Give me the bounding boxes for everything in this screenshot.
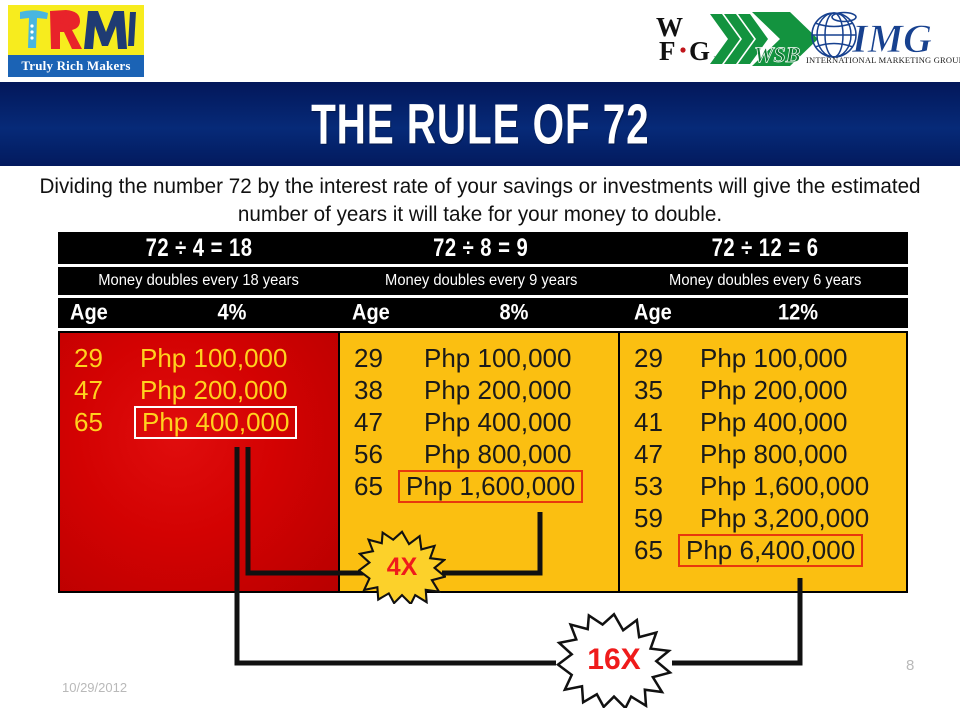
age-header-label-3: Age bbox=[622, 300, 722, 325]
formula-text-3: 72 ÷ 12 = 6 bbox=[712, 233, 819, 263]
highlighted-amount-box: Php 1,600,000 bbox=[398, 470, 583, 503]
row-amount: Php 800,000 bbox=[398, 439, 618, 470]
doubling-note-cell-1: Money doubles every 18 years bbox=[58, 267, 340, 295]
age-header-label-2: Age bbox=[340, 300, 440, 325]
row-amount: Php 200,000 bbox=[678, 375, 906, 406]
page-title: THE RULE OF 72 bbox=[311, 91, 649, 157]
row-age: 53 bbox=[620, 471, 678, 502]
svg-text:G: G bbox=[689, 36, 710, 66]
row-age: 47 bbox=[620, 439, 678, 470]
table-row: 65 Php 400,000 bbox=[60, 406, 338, 438]
callout-16x-label: 16X bbox=[550, 612, 678, 708]
table-row: 29 Php 100,000 bbox=[340, 342, 618, 374]
age-rate-header-2: Age 8% bbox=[340, 297, 622, 330]
trm-letters-icon bbox=[14, 6, 138, 54]
row-age: 41 bbox=[620, 407, 678, 438]
row-amount: Php 400,000 bbox=[678, 407, 906, 438]
table-row: 59 Php 3,200,000 bbox=[620, 502, 906, 534]
callout-4x: 4X bbox=[358, 530, 446, 604]
age-rate-header-1: Age 4% bbox=[58, 297, 340, 330]
data-column-4pct: 29 Php 100,000 47 Php 200,000 65 Php 400… bbox=[60, 333, 340, 591]
row-amount: Php 100,000 bbox=[118, 343, 338, 374]
row-age: 59 bbox=[620, 503, 678, 534]
formula-header-row: 72 ÷ 4 = 18 72 ÷ 8 = 9 72 ÷ 12 = 6 bbox=[58, 232, 908, 264]
row-amount: Php 200,000 bbox=[118, 375, 338, 406]
slide-title-bar: THE RULE OF 72 bbox=[0, 82, 960, 166]
callout-4x-label: 4X bbox=[358, 530, 446, 604]
svg-text:WSB: WSB bbox=[754, 42, 800, 67]
formula-text-1: 72 ÷ 4 = 18 bbox=[146, 233, 253, 263]
slide-number: 8 bbox=[906, 657, 914, 674]
age-rate-header-row: Age 4% Age 8% Age 12% bbox=[58, 298, 908, 328]
trm-logo: Truly Rich Makers bbox=[8, 5, 144, 73]
row-amount: Php 400,000 bbox=[398, 407, 618, 438]
row-age: 65 bbox=[340, 471, 398, 502]
row-amount: Php 1,600,000 bbox=[678, 471, 906, 502]
highlighted-amount-box: Php 400,000 bbox=[134, 406, 297, 439]
rule-of-72-table: 72 ÷ 4 = 18 72 ÷ 8 = 9 72 ÷ 12 = 6 Money… bbox=[58, 232, 908, 593]
row-amount: Php 100,000 bbox=[678, 343, 906, 374]
table-row: 35 Php 200,000 bbox=[620, 374, 906, 406]
row-age: 29 bbox=[340, 343, 398, 374]
logo-band: Truly Rich Makers W F G ™ WSB bbox=[0, 0, 960, 82]
row-age: 35 bbox=[620, 375, 678, 406]
table-row: 47 Php 800,000 bbox=[620, 438, 906, 470]
row-amount: Php 200,000 bbox=[398, 375, 618, 406]
slide-date: 10/29/2012 bbox=[62, 680, 127, 695]
doubling-note-1: Money doubles every 18 years bbox=[99, 272, 300, 290]
img-logo-caption: INTERNATIONAL MARKETING GROUP bbox=[806, 55, 958, 65]
data-column-12pct: 29 Php 100,000 35 Php 200,000 41 Php 400… bbox=[620, 333, 906, 591]
table-row: 29 Php 100,000 bbox=[620, 342, 906, 374]
formula-text-2: 72 ÷ 8 = 9 bbox=[433, 233, 528, 263]
callout-16x: 16X bbox=[550, 612, 678, 708]
row-amount: Php 800,000 bbox=[678, 439, 906, 470]
table-row: 65 Php 6,400,000 bbox=[620, 534, 906, 566]
table-row: 29 Php 100,000 bbox=[60, 342, 338, 374]
table-row: 41 Php 400,000 bbox=[620, 406, 906, 438]
doubling-note-2: Money doubles every 9 years bbox=[385, 272, 577, 290]
age-header-label-1: Age bbox=[58, 300, 158, 325]
row-age: 29 bbox=[60, 343, 118, 374]
age-rate-header-3: Age 12% bbox=[622, 297, 908, 330]
row-age: 29 bbox=[620, 343, 678, 374]
trm-logo-mark bbox=[8, 5, 144, 55]
row-amount: Php 100,000 bbox=[398, 343, 618, 374]
row-age: 38 bbox=[340, 375, 398, 406]
rate-header-2: 8% bbox=[440, 300, 622, 325]
row-age: 65 bbox=[60, 407, 118, 438]
table-row: 53 Php 1,600,000 bbox=[620, 470, 906, 502]
row-age: 56 bbox=[340, 439, 398, 470]
trm-logo-caption: Truly Rich Makers bbox=[21, 58, 130, 74]
formula-cell-2: 72 ÷ 8 = 9 bbox=[340, 232, 622, 264]
formula-cell-3: 72 ÷ 12 = 6 bbox=[622, 232, 908, 264]
svg-text:F: F bbox=[659, 36, 676, 66]
doubling-note-cell-3: Money doubles every 6 years bbox=[622, 267, 908, 295]
row-amount: Php 3,200,000 bbox=[678, 503, 906, 534]
trm-logo-caption-band: Truly Rich Makers bbox=[8, 55, 144, 77]
slide-canvas: Truly Rich Makers W F G ™ WSB bbox=[0, 0, 960, 720]
rate-header-3: 12% bbox=[722, 300, 908, 325]
row-age: 65 bbox=[620, 535, 678, 566]
table-row: 47 Php 400,000 bbox=[340, 406, 618, 438]
formula-cell-1: 72 ÷ 4 = 18 bbox=[58, 232, 340, 264]
row-age: 47 bbox=[340, 407, 398, 438]
row-amount-highlighted: Php 1,600,000 bbox=[398, 470, 618, 503]
table-row: 47 Php 200,000 bbox=[60, 374, 338, 406]
slide-subtitle: Dividing the number 72 by the interest r… bbox=[27, 172, 933, 228]
highlighted-amount-box: Php 6,400,000 bbox=[678, 534, 863, 567]
table-row: 38 Php 200,000 bbox=[340, 374, 618, 406]
rate-header-1: 4% bbox=[158, 300, 340, 325]
table-row: 56 Php 800,000 bbox=[340, 438, 618, 470]
table-row: 65 Php 1,600,000 bbox=[340, 470, 618, 502]
doubling-note-cell-2: Money doubles every 9 years bbox=[340, 267, 622, 295]
row-age: 47 bbox=[60, 375, 118, 406]
row-amount-highlighted: Php 6,400,000 bbox=[678, 534, 906, 567]
table-data-band: 29 Php 100,000 47 Php 200,000 65 Php 400… bbox=[58, 331, 908, 593]
row-amount-highlighted: Php 400,000 bbox=[118, 406, 338, 439]
doubling-note-row: Money doubles every 18 years Money doubl… bbox=[58, 267, 908, 295]
doubling-note-3: Money doubles every 6 years bbox=[669, 272, 861, 290]
